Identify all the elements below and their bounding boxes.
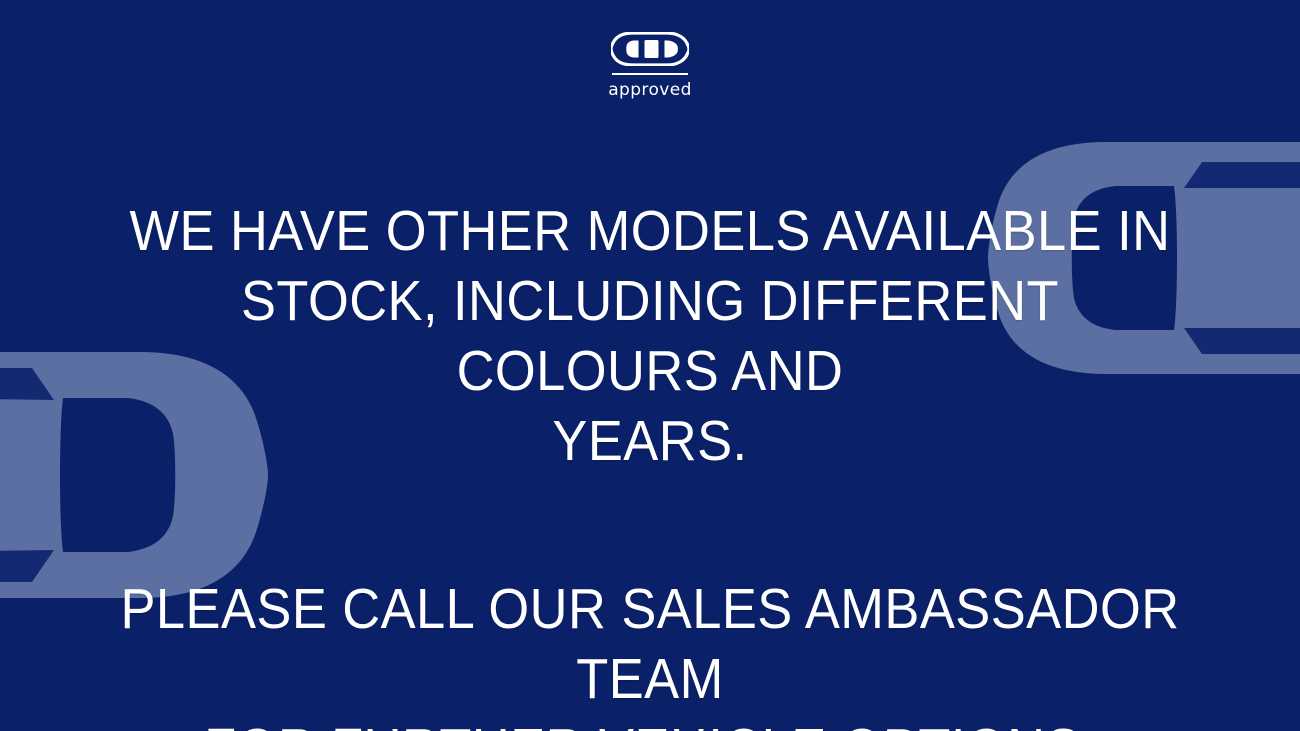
paragraph-spacer	[0, 476, 1300, 574]
headline-line-2: STOCK, INCLUDING DIFFERENT COLOURS AND	[52, 266, 1248, 406]
logo-divider	[612, 73, 688, 75]
promotional-slide: approved WE HAVE OTHER MODELS AVAILABLE …	[0, 0, 1300, 731]
headline-line-3: YEARS.	[52, 406, 1248, 476]
headline-line-4: PLEASE CALL OUR SALES AMBASSADOR TEAM	[52, 574, 1248, 714]
headline-line-5: FOR FURTHER VEHICLE OPTIONS.	[52, 714, 1248, 731]
message-body: WE HAVE OTHER MODELS AVAILABLE IN STOCK,…	[0, 196, 1300, 731]
headline-line-1: WE HAVE OTHER MODELS AVAILABLE IN	[52, 196, 1248, 266]
car-top-view-icon	[611, 32, 689, 66]
brand-logo: approved	[0, 32, 1300, 100]
logo-wordmark: approved	[608, 80, 692, 100]
